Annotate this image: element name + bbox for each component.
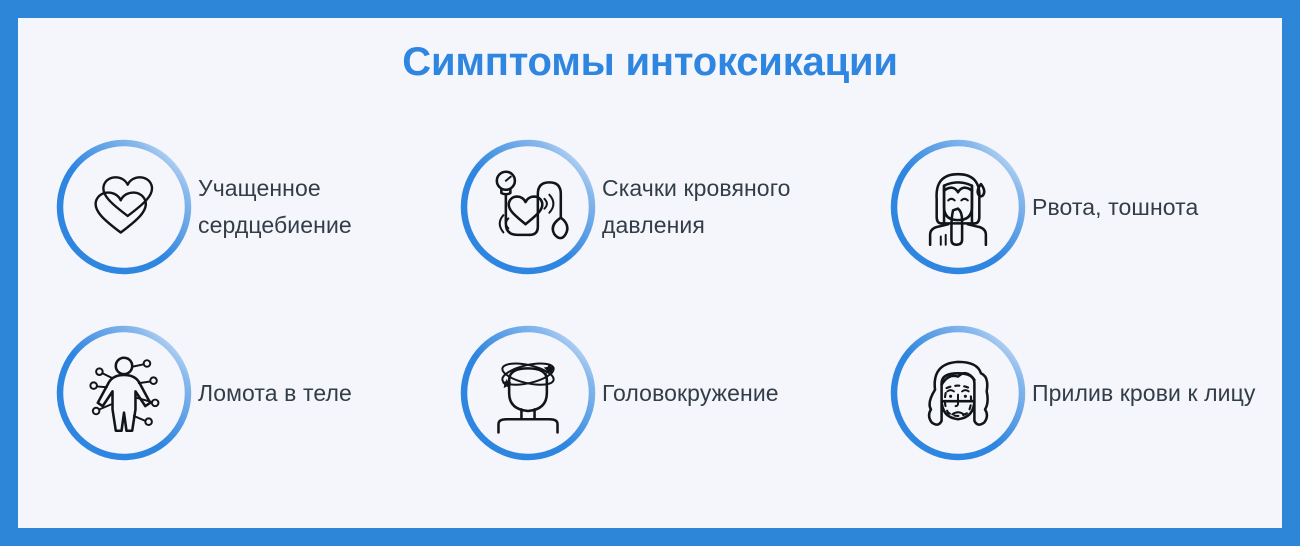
icon-ring-dizziness <box>458 323 598 463</box>
symptom-label: Головокружение <box>598 375 779 412</box>
icon-ring-blood-pressure <box>458 137 598 277</box>
page-title: Симптомы интоксикации <box>18 18 1282 85</box>
symptom-item-nausea: Рвота, тошнота <box>888 114 1282 300</box>
symptom-label: Ломота в теле <box>194 375 352 412</box>
symptom-item-body-ache: Ломота в теле <box>54 300 458 486</box>
symptom-item-heart: Учащенное сердцебиение <box>54 114 458 300</box>
symptom-label: Скачки кровяного давления <box>598 170 852 244</box>
symptom-label: Рвота, тошнота <box>1028 189 1198 226</box>
symptoms-grid: Учащенное сердцебиение <box>18 114 1282 486</box>
poster-panel: Симптомы интоксикации <box>18 18 1282 528</box>
icon-ring-facial-flushing <box>888 323 1028 463</box>
dizzy-head-icon <box>487 352 569 434</box>
double-heart-icon <box>83 166 165 248</box>
symptom-item-blood-pressure: Скачки кровяного давления <box>458 114 888 300</box>
body-pain-points-icon <box>83 352 165 434</box>
symptom-label: Учащенное сердцебиение <box>194 170 418 244</box>
icon-ring-heart <box>54 137 194 277</box>
symptom-item-dizziness: Головокружение <box>458 300 888 486</box>
icon-ring-nausea <box>888 137 1028 277</box>
icon-ring-body-ache <box>54 323 194 463</box>
blood-pressure-cuff-icon <box>487 166 569 248</box>
symptom-item-facial-flushing: Прилив крови к лицу <box>888 300 1282 486</box>
flushed-face-icon <box>917 352 999 434</box>
infographic-poster: Симптомы интоксикации <box>0 0 1300 546</box>
symptom-label: Прилив крови к лицу <box>1028 375 1255 412</box>
nauseated-person-icon <box>917 166 999 248</box>
